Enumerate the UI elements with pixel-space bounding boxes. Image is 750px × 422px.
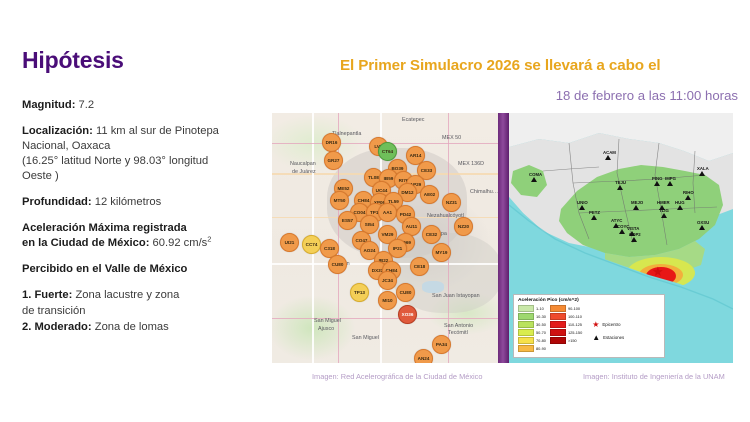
station-label: RIHO xyxy=(683,190,694,195)
station-triangle-icon[interactable] xyxy=(685,195,691,200)
simulacro-subheadline: 18 de febrero a las 11:00 horas xyxy=(340,88,738,104)
facts-list: Magnitud: 7.2 Localización: 11 km al sur… xyxy=(22,98,262,335)
aceleracion-line2: en la Ciudad de México: 60.92 cm/s2 xyxy=(22,236,262,251)
level-moderado-key: 2. Moderado: xyxy=(22,321,92,333)
station-marker[interactable]: AA1 xyxy=(378,203,397,222)
estaciones-icon: ▲ xyxy=(592,334,600,342)
station-triangle-icon[interactable] xyxy=(617,185,623,190)
station-label: VISTA xyxy=(627,226,639,231)
legend-row: 70-80 xyxy=(518,337,546,344)
lake-xochimilco xyxy=(422,281,444,293)
station-marker[interactable]: CE18 xyxy=(410,257,429,276)
station-label: XALA xyxy=(697,166,709,171)
station-label: ACAM xyxy=(603,150,616,155)
station-label: TEJU xyxy=(615,180,626,185)
station-label: PING xyxy=(652,176,663,181)
legend-range-label: 10-30 xyxy=(536,314,546,319)
station-marker[interactable]: ES57 xyxy=(338,211,357,230)
station-label: UNIO xyxy=(577,200,588,205)
map-label: Tecómitl xyxy=(448,330,468,336)
epicenter-star-icon: ★ xyxy=(652,265,664,278)
station-marker[interactable]: JC34 xyxy=(378,271,397,290)
legend-row: 50-70 xyxy=(518,329,546,336)
station-marker[interactable]: MI10 xyxy=(378,291,397,310)
station-label: MEJO xyxy=(631,200,643,205)
legend-row: 10-30 xyxy=(518,313,546,320)
legend-swatch xyxy=(550,337,566,344)
legend-range-label: 70-80 xyxy=(536,338,546,343)
station-marker[interactable]: PA34 xyxy=(432,335,451,354)
station-label: COP2 xyxy=(629,232,641,237)
station-marker[interactable]: CE32 xyxy=(422,225,441,244)
station-triangle-icon[interactable] xyxy=(654,181,660,186)
station-triangle-icon[interactable] xyxy=(531,177,537,182)
map-label: de Juárez xyxy=(292,169,316,175)
level-fuerte-cont: de transición xyxy=(22,304,262,319)
level-fuerte-value: Zona lacustre y zona xyxy=(72,289,179,301)
legend-swatch xyxy=(518,345,534,352)
legend-range-label: 30-50 xyxy=(536,322,546,327)
map-label: San Antonio xyxy=(444,323,473,329)
station-marker[interactable]: CT64 xyxy=(378,142,397,161)
legend-row: 80-90 xyxy=(518,345,546,352)
legend-symbol-row: ★Epicentro xyxy=(592,321,624,329)
map-label: Naucalpan xyxy=(290,161,316,167)
map-label: Chimalhu… xyxy=(470,189,498,195)
level-fuerte-key: 1. Fuerte: xyxy=(22,289,72,301)
caption-left-map: Imagen: Red Acelerográfica de la Ciudad … xyxy=(312,372,483,381)
station-marker[interactable]: MT50 xyxy=(330,191,349,210)
legend-row: 125-150 xyxy=(550,329,582,336)
legend-column-left: 1-1010-3030-5050-7070-8080-90 xyxy=(518,305,546,352)
legend-row: >150 xyxy=(550,337,582,344)
station-triangle-icon[interactable] xyxy=(677,205,683,210)
legend-swatch xyxy=(518,305,534,312)
legend-range-label: 80-90 xyxy=(536,346,546,351)
station-triangle-icon[interactable] xyxy=(591,215,597,220)
aceleracion-exponent: 2 xyxy=(207,234,211,243)
legend-symbols: ★Epicentro▲Estaciones xyxy=(592,305,624,352)
page-title: Hipótesis xyxy=(22,48,262,72)
map-label: San Miguel xyxy=(314,318,341,324)
station-marker[interactable]: CU80 xyxy=(328,255,347,274)
fact-localizacion-key: Localización: xyxy=(22,125,93,137)
legend-range-label: 125-150 xyxy=(568,330,582,335)
aceleracion-line2-key: en la Ciudad de México: xyxy=(22,237,149,249)
map-label: Ecatepec xyxy=(402,117,424,123)
station-marker[interactable]: AN24 xyxy=(414,349,433,363)
simulacro-headline: El Primer Simulacro 2026 se llevará a ca… xyxy=(340,57,740,75)
percibido-levels: 1. Fuerte: Zona lacustre y zona de trans… xyxy=(22,288,262,335)
station-label: PETZ xyxy=(589,210,600,215)
legend-swatch xyxy=(550,305,566,312)
fact-magnitud-key: Magnitud: xyxy=(22,99,75,111)
level-fuerte: 1. Fuerte: Zona lacustre y zona xyxy=(22,288,262,303)
slide-root: Hipótesis Magnitud: 7.2 Localización: 11… xyxy=(0,0,750,422)
level-moderado: 2. Moderado: Zona de lomas xyxy=(22,320,262,335)
percibido-heading-text: Percibido en el Valle de México xyxy=(22,263,187,275)
legend-symbol-label: Estaciones xyxy=(603,335,624,340)
station-marker[interactable]: AE02 xyxy=(420,185,439,204)
left-content-column: Hipótesis Magnitud: 7.2 Localización: 11… xyxy=(22,48,262,345)
legend-row: 90-100 xyxy=(550,305,582,312)
fact-localizacion-line2: Nacional, Oaxaca xyxy=(22,139,262,154)
station-triangle-icon[interactable] xyxy=(619,229,625,234)
legend-swatch xyxy=(550,329,566,336)
aceleracion-line2-value: 60.92 cm/s xyxy=(149,237,207,249)
station-marker[interactable]: UI21 xyxy=(280,233,299,252)
road-pink-3 xyxy=(338,113,339,363)
legend-row: 30-50 xyxy=(518,321,546,328)
fact-profundidad-value: 12 kilómetros xyxy=(92,196,162,208)
station-marker[interactable]: GR27 xyxy=(324,151,343,170)
station-triangle-icon[interactable] xyxy=(631,237,637,242)
fact-localizacion-line1: Localización: 11 km al sur de Pinotepa xyxy=(22,124,262,139)
station-marker[interactable]: XO36 xyxy=(398,305,417,324)
station-marker[interactable]: TP13 xyxy=(350,283,369,302)
station-label: TLIG xyxy=(659,208,669,213)
station-marker[interactable]: NZ20 xyxy=(454,217,473,236)
fact-localizacion: Localización: 11 km al sur de Pinotepa N… xyxy=(22,124,262,184)
aceleracion-line1: Aceleración Máxima registrada xyxy=(22,221,262,236)
fact-profundidad-key: Profundidad: xyxy=(22,196,92,208)
legend-row: 1-10 xyxy=(518,305,546,312)
epicentro-icon: ★ xyxy=(592,321,599,329)
percibido-heading: Percibido en el Valle de México xyxy=(22,262,262,277)
station-triangle-icon[interactable] xyxy=(605,155,611,160)
fact-localizacion-value: 11 km al sur de Pinotepa xyxy=(93,125,219,137)
map-oaxaca-shakemap[interactable]: COMAACAMXALATEJUPINGIMPGRIHOUNIOMEJOHMER… xyxy=(509,113,733,363)
legend-range-label: >150 xyxy=(568,338,577,343)
legend-body: 1-1010-3030-5050-7070-8080-90 90-100100-… xyxy=(518,305,660,352)
legend-swatch xyxy=(550,321,566,328)
legend-title: Aceleración Pico (cm/s^2) xyxy=(518,298,660,303)
map-label: Ajusco xyxy=(318,326,334,332)
fact-localizacion-line4: Oeste ) xyxy=(22,169,262,184)
road-pink-2 xyxy=(272,318,498,319)
station-triangle-icon[interactable] xyxy=(633,205,639,210)
map-label: MEX 50 xyxy=(442,135,461,141)
map-label: San Miguel xyxy=(352,335,379,341)
maps-container: TlalnepantlaNaucalpande JuárezMEX 50MEX … xyxy=(272,113,733,363)
legend-range-label: 50-70 xyxy=(536,330,546,335)
maps-divider xyxy=(498,113,509,363)
station-triangle-icon[interactable] xyxy=(661,213,667,218)
caption-right-map: Imagen: Instituto de Ingeniería de la UN… xyxy=(583,372,725,381)
map-cdmx-accelerograph-network[interactable]: TlalnepantlaNaucalpande JuárezMEX 50MEX … xyxy=(272,113,498,363)
level-moderado-value: Zona de lomas xyxy=(92,321,169,333)
fact-aceleracion: Aceleración Máxima registrada en la Ciud… xyxy=(22,221,262,251)
station-marker[interactable]: CU80 xyxy=(396,283,415,302)
map-label: San Juan Ixtayopan xyxy=(432,293,480,299)
fact-profundidad: Profundidad: 12 kilómetros xyxy=(22,195,262,210)
station-marker[interactable]: DR16 xyxy=(322,133,341,152)
legend-range-label: 110-125 xyxy=(568,322,582,327)
station-label: OXSU xyxy=(697,220,709,225)
fact-magnitud: Magnitud: 7.2 xyxy=(22,98,262,113)
station-label: COMA xyxy=(529,172,542,177)
legend-swatch xyxy=(518,313,534,320)
legend-column-right: 90-100100-110110-125125-150>150 xyxy=(550,305,582,352)
legend-row: 100-110 xyxy=(550,313,582,320)
station-label: HUG xyxy=(675,200,685,205)
shakemap-legend: Aceleración Pico (cm/s^2) 1-1010-3030-50… xyxy=(513,294,665,358)
station-marker[interactable]: MY19 xyxy=(432,243,451,262)
legend-row: 110-125 xyxy=(550,321,582,328)
station-label: HMER xyxy=(657,200,670,205)
legend-swatch xyxy=(550,313,566,320)
station-triangle-icon[interactable] xyxy=(667,181,673,186)
station-triangle-icon[interactable] xyxy=(699,171,705,176)
legend-swatch xyxy=(518,329,534,336)
fact-localizacion-line3: (16.25° latitud Norte y 98.03° longitud xyxy=(22,154,262,169)
fact-magnitud-value: 7.2 xyxy=(75,99,94,111)
legend-range-label: 100-110 xyxy=(568,314,582,319)
legend-swatch xyxy=(518,321,534,328)
station-label: ATYC xyxy=(611,218,622,223)
map-label: MEX 136D xyxy=(458,161,484,167)
legend-symbol-row: ▲Estaciones xyxy=(592,334,624,342)
station-marker[interactable]: CC74 xyxy=(302,235,321,254)
station-label: IMPG xyxy=(665,176,676,181)
station-triangle-icon[interactable] xyxy=(699,225,705,230)
station-triangle-icon[interactable] xyxy=(579,205,585,210)
legend-symbol-label: Epicentro xyxy=(602,322,620,327)
legend-range-label: 1-10 xyxy=(536,306,544,311)
legend-swatch xyxy=(518,337,534,344)
legend-range-label: 90-100 xyxy=(568,306,580,311)
station-marker[interactable]: NZ31 xyxy=(442,193,461,212)
